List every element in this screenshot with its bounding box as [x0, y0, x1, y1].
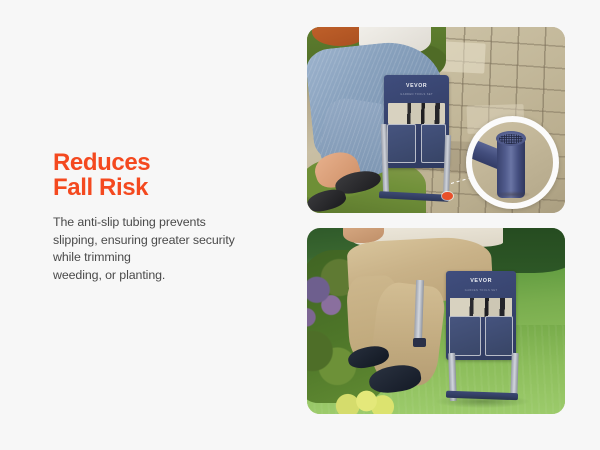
description-line-4: weeding, or planting.: [53, 267, 283, 285]
headline-line-1: Reduces: [53, 150, 283, 175]
anti-slip-tubing-closeup-inset: [466, 116, 559, 209]
tool-pocket-left: [387, 124, 416, 163]
image-column: VEVOR GARDEN TOOLS SET: [307, 27, 565, 414]
tool-pocket-left: [449, 316, 481, 355]
inset-white-ring: [466, 116, 559, 209]
product-photo-top: VEVOR GARDEN TOOLS SET: [307, 27, 565, 213]
feature-banner: Reduces Fall Risk The anti-slip tubing p…: [0, 0, 600, 450]
brand-sub-text: GARDEN TOOLS SET: [446, 289, 516, 292]
text-column: Reduces Fall Risk The anti-slip tubing p…: [53, 150, 283, 284]
scene-lawn: VEVOR GARDEN TOOLS SET: [307, 228, 565, 414]
brand-logo-text: VEVOR: [384, 83, 449, 89]
scene-patio: VEVOR GARDEN TOOLS SET: [307, 27, 565, 213]
garden-tools: [450, 298, 513, 318]
description-line-2: slipping, ensuring greater security: [53, 232, 283, 250]
tool-pocket-right: [485, 316, 513, 355]
headline-line-2: Fall Risk: [53, 175, 283, 200]
product-photo-bottom: VEVOR GARDEN TOOLS SET: [307, 228, 565, 414]
description-line-3: while trimming: [53, 249, 283, 267]
page-title: Reduces Fall Risk: [53, 150, 283, 200]
garden-stool-tool-bag: VEVOR GARDEN TOOLS SET: [446, 271, 516, 360]
garden-stool-tool-bag: VEVOR GARDEN TOOLS SET: [384, 75, 449, 168]
tool-pocket-right: [421, 124, 447, 163]
description-line-1: The anti-slip tubing prevents: [53, 214, 283, 232]
brand-sub-text: GARDEN TOOLS SET: [384, 93, 449, 96]
stool-front-foot: [413, 338, 426, 347]
brand-logo-text: VEVOR: [446, 278, 516, 284]
garden-tools: [388, 103, 445, 123]
stool-leg-right: [510, 353, 518, 398]
feature-description: The anti-slip tubing prevents slipping, …: [53, 214, 283, 284]
